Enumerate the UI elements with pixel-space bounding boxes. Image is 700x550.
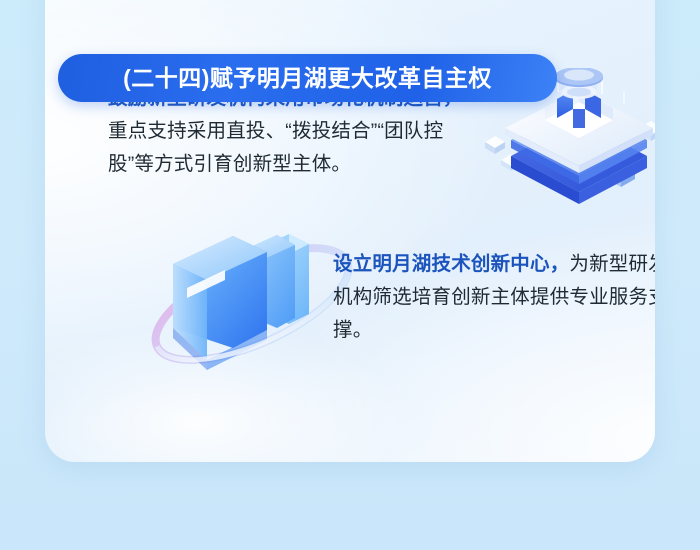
section-1-body: 重点支持采用直投、“拨投结合”“团队控股”等方式引育创新型主体。 — [108, 120, 443, 175]
section-title-pill: (二十四)赋予明月湖更大改革自主权 — [58, 54, 557, 102]
section-2-text: 设立明月湖技术创新中心，为新型研发机构筛选培育创新主体提供专业服务支撑。 — [333, 248, 655, 347]
section-2-lead: 设立明月湖技术创新中心， — [333, 253, 569, 275]
page-title: (二十四)赋予明月湖更大改革自主权 — [123, 67, 492, 90]
